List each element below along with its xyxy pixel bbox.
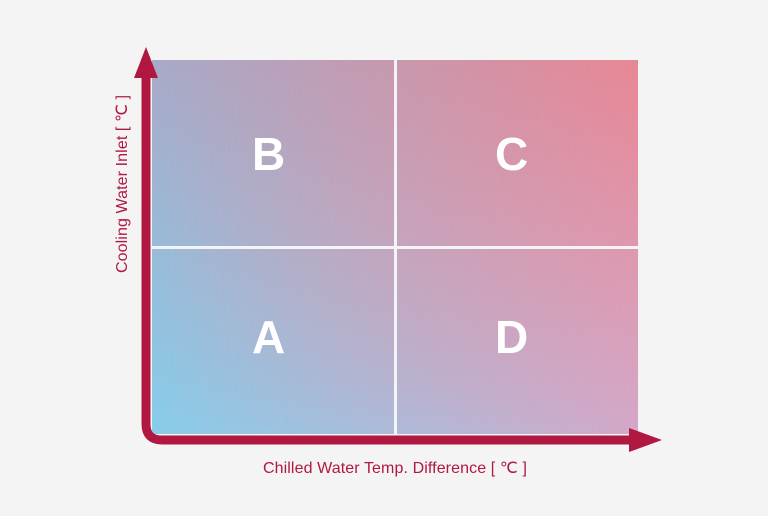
quadrant-label-c: C: [495, 131, 528, 177]
quadrant-label-b: B: [252, 131, 285, 177]
y-axis-label: Cooling Water Inlet [ ℃ ]: [112, 95, 132, 273]
quadrant-label-a: A: [252, 314, 285, 360]
quadrant-label-d: D: [495, 314, 528, 360]
plot-area: B C A D: [152, 60, 638, 434]
chart-canvas: B C A D Cooling Water Inlet [ ℃ ] Chille…: [0, 0, 768, 516]
quadrant-divider-horizontal: [152, 246, 638, 249]
x-axis-label: Chilled Water Temp. Difference [ ℃ ]: [152, 458, 638, 478]
